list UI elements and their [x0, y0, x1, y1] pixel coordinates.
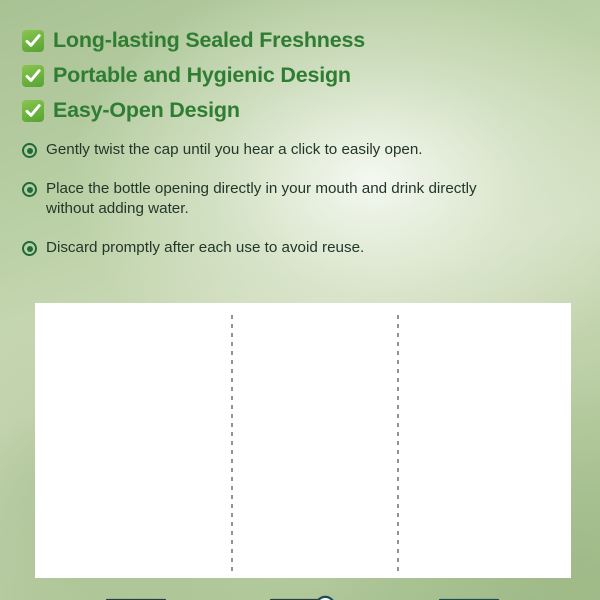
remove-cap-step: [265, 593, 365, 600]
instruction-step-list: Gently twist the cap until you hear a cl…: [22, 140, 542, 277]
instruction-step-text: Place the bottle opening directly in you…: [46, 179, 516, 219]
instruction-step-text: Discard promptly after each use to avoid…: [46, 238, 364, 258]
instruction-step: Discard promptly after each use to avoid…: [22, 238, 542, 258]
check-icon: [22, 100, 44, 122]
illustration-panel: [35, 303, 571, 578]
bullet-dot-icon: [22, 241, 37, 256]
instruction-step: Gently twist the cap until you hear a cl…: [22, 140, 542, 160]
feature-list: Long-lasting Sealed Freshness Portable a…: [22, 24, 582, 129]
tilted-cap-icon: [287, 593, 364, 600]
check-icon: [22, 30, 44, 52]
feature-item: Portable and Hygienic Design: [22, 59, 582, 92]
feature-item: Easy-Open Design: [22, 94, 582, 127]
feature-label: Easy-Open Design: [53, 98, 240, 123]
product-instruction-poster: Long-lasting Sealed Freshness Portable a…: [0, 0, 600, 600]
instruction-step-text: Gently twist the cap until you hear a cl…: [46, 140, 423, 160]
bullet-dot-icon: [22, 182, 37, 197]
feature-label: Portable and Hygienic Design: [53, 63, 351, 88]
check-icon: [22, 65, 44, 87]
feature-item: Long-lasting Sealed Freshness: [22, 24, 582, 57]
instruction-step: Place the bottle opening directly in you…: [22, 179, 542, 219]
feature-label: Long-lasting Sealed Freshness: [53, 28, 365, 53]
bullet-dot-icon: [22, 143, 37, 158]
